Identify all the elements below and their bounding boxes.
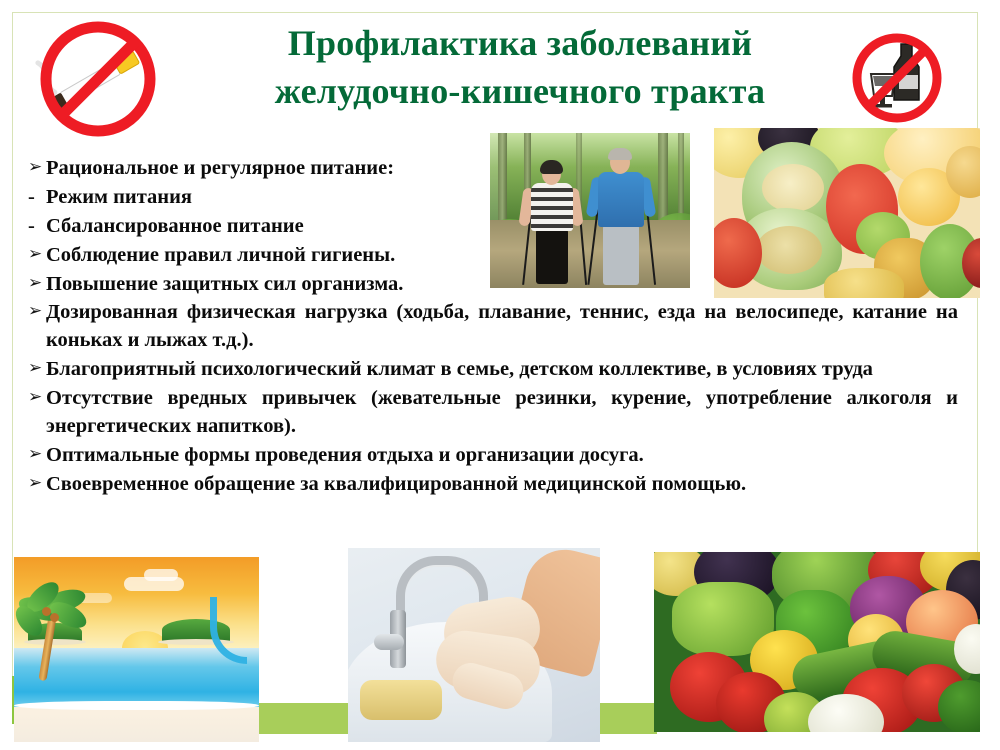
list-item: ➢ Оптимальные формы проведения отдыха и … xyxy=(28,442,958,470)
photo-beach xyxy=(14,557,259,742)
list-item: ➢ Соблюдение правил личной гигиены. xyxy=(28,242,548,270)
title-line-1: Профилактика заболеваний xyxy=(200,20,840,68)
bullet-arrow-icon: ➢ xyxy=(28,242,46,267)
photo-handwashing xyxy=(348,548,600,742)
poster-slide: Профилактика заболеваний желудочно-кишеч… xyxy=(0,0,1000,750)
list-item-text: Сбалансированное питание xyxy=(46,213,498,241)
dash-marker: - xyxy=(28,184,46,212)
list-item: - Сбалансированное питание xyxy=(28,213,498,241)
list-item: ➢ Благоприятный психологический климат в… xyxy=(28,356,958,384)
title-line-2: желудочно-кишечного тракта xyxy=(200,68,840,116)
bullet-arrow-icon: ➢ xyxy=(28,356,46,381)
list-item: ➢ Своевременное обращение за квалифициро… xyxy=(28,471,958,499)
photo-couple-walking xyxy=(490,133,690,288)
list-item: ➢ Отсутствие вредных привычек (жевательн… xyxy=(28,385,958,441)
no-alcohol-icon xyxy=(845,28,949,128)
bullet-arrow-icon: ➢ xyxy=(28,471,46,496)
list-item-text: Отсутствие вредных привычек (жевательные… xyxy=(46,385,958,441)
no-smoking-icon xyxy=(30,18,166,140)
bullet-arrow-icon: ➢ xyxy=(28,271,46,296)
dash-marker: - xyxy=(28,213,46,241)
list-item-text: Соблюдение правил личной гигиены. xyxy=(46,242,548,270)
list-item-text: Режим питания xyxy=(46,184,498,212)
list-item-text: Благоприятный психологический климат в с… xyxy=(46,356,958,384)
bullet-arrow-icon: ➢ xyxy=(28,299,46,324)
bullet-arrow-icon: ➢ xyxy=(28,155,46,180)
list-item: ➢ Повышение защитных сил организма. xyxy=(28,271,548,299)
bullet-arrow-icon: ➢ xyxy=(28,385,46,410)
list-item: ➢ Дозированная физическая нагрузка (ходь… xyxy=(28,299,958,355)
list-item: ➢ Рациональное и регулярное питание: xyxy=(28,155,498,183)
list-item-text: Оптимальные формы проведения отдыха и ор… xyxy=(46,442,958,470)
bullet-arrow-icon: ➢ xyxy=(28,442,46,467)
page-title: Профилактика заболеваний желудочно-кишеч… xyxy=(200,20,840,115)
photo-fruits xyxy=(714,128,980,298)
list-item-text: Рациональное и регулярное питание: xyxy=(46,155,498,183)
list-item-text: Повышение защитных сил организма. xyxy=(46,271,548,299)
list-item-text: Дозированная физическая нагрузка (ходьба… xyxy=(46,299,958,355)
list-item: - Режим питания xyxy=(28,184,498,212)
list-item-text: Своевременное обращение за квалифицирова… xyxy=(46,471,958,499)
photo-vegetables xyxy=(654,552,980,732)
